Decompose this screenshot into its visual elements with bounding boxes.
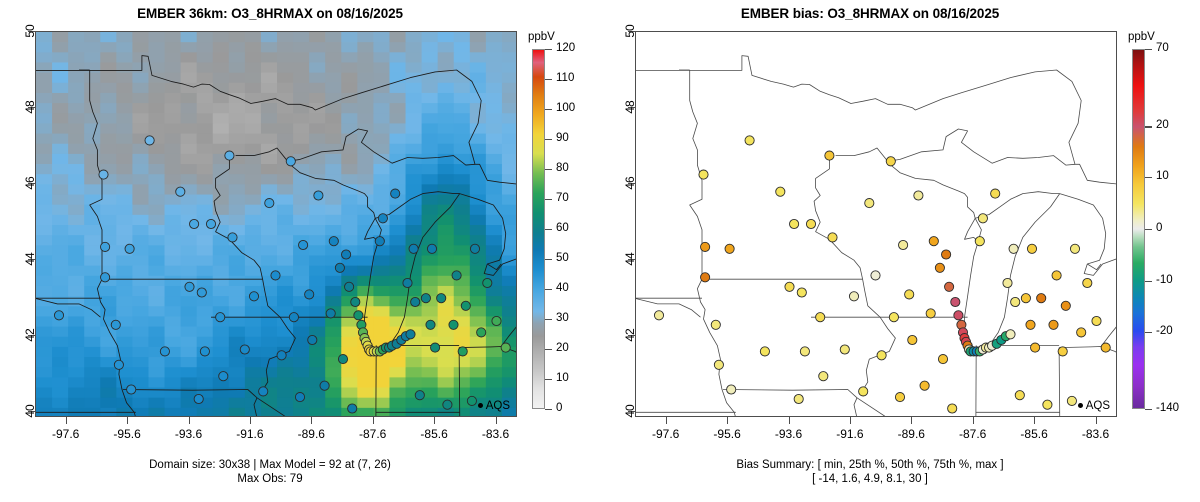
panel-title-bias: EMBER bias: O3_8HRMAX on 08/16/2025 [600, 6, 1140, 21]
raster-cell [502, 205, 516, 216]
raster-cell [406, 52, 423, 63]
raster-cell [293, 62, 310, 73]
aqs-station-marker[interactable] [259, 387, 268, 396]
aqs-station-marker[interactable] [920, 381, 929, 390]
raster-cell [148, 286, 165, 297]
raster-cell [229, 174, 246, 185]
raster-cell [229, 205, 246, 216]
aqs-station-marker[interactable] [711, 320, 720, 329]
raster-cell [213, 357, 230, 368]
aqs-station-marker[interactable] [501, 343, 510, 352]
aqs-station-marker[interactable] [277, 351, 286, 360]
raster-cell [116, 144, 133, 155]
aqs-station-marker[interactable] [825, 151, 834, 160]
raster-cell [148, 113, 165, 124]
aqs-station-marker[interactable] [945, 282, 954, 291]
raster-cell [470, 316, 487, 327]
raster-cell [357, 408, 374, 416]
aqs-station-marker[interactable] [828, 233, 837, 242]
aqs-station-marker[interactable] [249, 292, 258, 301]
raster-cell [36, 134, 53, 145]
raster-cell [197, 144, 214, 155]
raster-cell [277, 235, 294, 246]
raster-cell [52, 123, 69, 134]
aqs-station-marker[interactable] [1049, 320, 1058, 329]
aqs-station-marker[interactable] [477, 328, 486, 337]
raster-cell [245, 184, 262, 195]
raster-cell [422, 113, 439, 124]
raster-cell [470, 205, 487, 216]
raster-cell [68, 266, 85, 277]
raster-cell [309, 93, 326, 104]
raster-cell [148, 164, 165, 175]
aqs-station-marker[interactable] [443, 400, 452, 409]
aqs-station-marker[interactable] [314, 191, 323, 200]
aqs-station-marker[interactable] [954, 311, 963, 320]
raster-cell [277, 215, 294, 226]
aqs-station-marker[interactable] [714, 360, 723, 369]
raster-cell [486, 42, 503, 53]
aqs-station-marker[interactable] [351, 297, 360, 306]
aqs-station-marker[interactable] [295, 393, 304, 402]
aqs-station-marker[interactable] [320, 381, 329, 390]
raster-cell [261, 154, 278, 165]
aqs-station-marker[interactable] [354, 311, 363, 320]
aqs-station-marker[interactable] [286, 157, 295, 166]
colorbar-tick-label: 80 [556, 162, 569, 174]
raster-cell [454, 62, 471, 73]
raster-cell [373, 327, 390, 338]
raster-cell [422, 32, 439, 43]
colorbar-tick-label: -140 [1156, 402, 1179, 414]
raster-cell [148, 174, 165, 185]
raster-cell [245, 205, 262, 216]
raster-cell [84, 123, 101, 134]
aqs-station-marker[interactable] [200, 347, 209, 356]
raster-cell [261, 337, 278, 348]
raster-cell [261, 327, 278, 338]
raster-cell [309, 83, 326, 94]
aqs-station-marker[interactable] [378, 214, 387, 223]
aqs-station-marker[interactable] [1006, 330, 1015, 339]
x-axis-bias: -97.6-95.6-93.6-91.6-89.6-87.6-85.6-83.6 [635, 417, 1117, 451]
aqs-station-marker[interactable] [145, 136, 154, 145]
aqs-station-marker[interactable] [785, 282, 794, 291]
raster-cell [165, 306, 182, 317]
aqs-station-marker[interactable] [760, 347, 769, 356]
aqs-station-marker[interactable] [725, 244, 734, 253]
aqs-station-marker[interactable] [289, 313, 298, 322]
raster-cell [470, 255, 487, 266]
aqs-station-marker[interactable] [127, 385, 136, 394]
aqs-station-marker[interactable] [470, 244, 479, 253]
aqs-station-marker[interactable] [1031, 343, 1040, 352]
raster-cell [52, 398, 69, 409]
raster-cell [229, 93, 246, 104]
raster-cell [116, 73, 133, 84]
aqs-station-marker[interactable] [899, 240, 908, 249]
raster-cell [245, 144, 262, 155]
aqs-station-marker[interactable] [426, 320, 435, 329]
aqs-station-marker[interactable] [411, 297, 420, 306]
aqs-station-marker[interactable] [338, 355, 347, 364]
raster-cell [148, 93, 165, 104]
raster-cell [389, 306, 406, 317]
aqs-station-marker[interactable] [905, 290, 914, 299]
raster-cell [165, 408, 182, 416]
aqs-station-marker[interactable] [1009, 244, 1018, 253]
aqs-station-marker[interactable] [415, 391, 424, 400]
raster-cell [197, 266, 214, 277]
aqs-station-marker[interactable] [701, 242, 710, 251]
aqs-station-marker[interactable] [914, 191, 923, 200]
raster-cell [438, 225, 455, 236]
raster-cell [406, 184, 423, 195]
raster-cell [486, 357, 503, 368]
raster-cell [357, 286, 374, 297]
raster-cell [100, 134, 117, 145]
raster-cell [132, 195, 149, 206]
raster-cell [245, 113, 262, 124]
raster-cell [181, 62, 198, 73]
aqs-station-marker[interactable] [865, 199, 874, 208]
raster-cell [389, 113, 406, 124]
aqs-station-marker[interactable] [1003, 278, 1012, 287]
raster-cell [165, 164, 182, 175]
raster-cell [132, 286, 149, 297]
raster-cell [213, 93, 230, 104]
raster-cell [197, 154, 214, 165]
aqs-station-marker[interactable] [776, 187, 785, 196]
raster-cell [486, 123, 503, 134]
aqs-station-marker[interactable] [926, 309, 935, 318]
raster-cell [229, 296, 246, 307]
aqs-station-marker[interactable] [948, 404, 957, 413]
aqs-station-marker[interactable] [889, 313, 898, 322]
aqs-dot-icon [478, 403, 483, 408]
raster-cell [165, 367, 182, 378]
raster-cell [438, 113, 455, 124]
aqs-station-marker[interactable] [1077, 328, 1086, 337]
aqs-station-marker[interactable] [99, 170, 108, 179]
raster-cell [325, 316, 342, 327]
raster-cell [502, 113, 516, 124]
raster-cell [502, 306, 516, 317]
aqs-station-marker[interactable] [101, 242, 110, 251]
aqs-station-marker[interactable] [101, 273, 110, 282]
aqs-station-marker[interactable] [176, 187, 185, 196]
aqs-station-marker[interactable] [1026, 320, 1035, 329]
aqs-station-marker[interactable] [991, 189, 1000, 198]
raster-cell [277, 52, 294, 63]
aqs-station-marker[interactable] [806, 219, 815, 228]
raster-cell [165, 123, 182, 134]
raster-cell [502, 357, 516, 368]
aqs-station-marker[interactable] [308, 335, 317, 344]
raster-cell [341, 32, 358, 43]
aqs-station-marker[interactable] [185, 282, 194, 291]
aqs-station-marker[interactable] [305, 290, 314, 299]
aqs-station-marker[interactable] [849, 292, 858, 301]
aqs-station-marker[interactable] [978, 214, 987, 223]
raster-cell [181, 73, 198, 84]
raster-cell [197, 93, 214, 104]
aqs-station-marker[interactable] [240, 345, 249, 354]
aqs-station-marker[interactable] [437, 294, 446, 303]
raster-cell [100, 52, 117, 63]
raster-cell [100, 154, 117, 165]
raster-cell [373, 164, 390, 175]
raster-cell [309, 357, 326, 368]
raster-cell [213, 398, 230, 409]
aqs-station-marker[interactable] [125, 244, 134, 253]
aqs-station-marker[interactable] [409, 244, 418, 253]
raster-cell [100, 32, 117, 43]
y-tick: 46 [600, 183, 635, 184]
raster-cell [116, 83, 133, 94]
aqs-station-marker[interactable] [1083, 278, 1092, 287]
aqs-station-marker[interactable] [938, 355, 947, 364]
raster-cell [341, 215, 358, 226]
aqs-station-marker[interactable] [794, 394, 803, 403]
aqs-station-marker[interactable] [886, 157, 895, 166]
raster-cell [309, 205, 326, 216]
aqs-station-marker[interactable] [1092, 316, 1101, 325]
aqs-station-marker[interactable] [701, 273, 710, 282]
aqs-station-marker[interactable] [54, 311, 63, 320]
raster-cell [261, 123, 278, 134]
aqs-station-marker[interactable] [391, 189, 400, 198]
aqs-station-marker[interactable] [483, 278, 492, 287]
colorbar-tick-mark [1145, 229, 1152, 230]
raster-cell [197, 235, 214, 246]
aqs-station-marker[interactable] [859, 387, 868, 396]
y-axis-bias: 404244464850 [600, 31, 635, 417]
raster-cell [132, 235, 149, 246]
raster-cell [229, 52, 246, 63]
aqs-station-marker[interactable] [403, 278, 412, 287]
raster-cell [454, 134, 471, 145]
raster-cell [502, 32, 516, 43]
aqs-station-marker[interactable] [190, 219, 199, 228]
aqs-station-marker[interactable] [216, 313, 225, 322]
x-axis-model: -97.6-95.6-93.6-91.6-89.6-87.6-85.6-83.6 [35, 417, 517, 451]
raster-cell [502, 93, 516, 104]
aqs-station-marker[interactable] [745, 136, 754, 145]
raster-cell [502, 52, 516, 63]
aqs-station-marker[interactable] [225, 151, 234, 160]
aqs-station-marker[interactable] [1015, 391, 1024, 400]
aqs-station-marker[interactable] [342, 250, 351, 259]
raster-cell [309, 123, 326, 134]
raster-cell [229, 164, 246, 175]
aqs-station-marker[interactable] [265, 199, 274, 208]
raster-cell [438, 367, 455, 378]
aqs-station-marker[interactable] [375, 237, 384, 246]
raster-cell [309, 347, 326, 358]
raster-cell [325, 52, 342, 63]
raster-cell [325, 83, 342, 94]
colorbar-tick-label: 0 [556, 402, 562, 414]
raster-cell [68, 367, 85, 378]
raster-cell [148, 388, 165, 399]
aqs-station-marker[interactable] [1067, 396, 1076, 405]
raster-cell [373, 255, 390, 266]
aqs-station-marker[interactable] [114, 360, 123, 369]
aqs-station-marker[interactable] [111, 320, 120, 329]
raster-cell [68, 103, 85, 114]
aqs-station-marker[interactable] [840, 345, 849, 354]
aqs-station-marker[interactable] [1061, 301, 1070, 310]
raster-cell [422, 306, 439, 317]
aqs-station-marker[interactable] [492, 316, 501, 325]
aqs-station-marker[interactable] [219, 372, 228, 381]
aqs-station-marker[interactable] [816, 313, 825, 322]
aqs-station-marker[interactable] [908, 335, 917, 344]
aqs-station-marker[interactable] [206, 219, 215, 228]
raster-cell [245, 52, 262, 63]
aqs-station-marker[interactable] [406, 330, 415, 339]
x-tick-label: -91.6 [836, 427, 863, 441]
y-tick-label: 50 [624, 24, 636, 37]
aqs-station-marker[interactable] [800, 347, 809, 356]
aqs-station-marker[interactable] [951, 297, 960, 306]
aqs-station-marker[interactable] [1052, 271, 1061, 280]
aqs-station-marker[interactable] [797, 288, 806, 297]
aqs-station-marker[interactable] [329, 237, 338, 246]
aqs-station-marker[interactable] [935, 263, 944, 272]
raster-cell [422, 174, 439, 185]
map-background [636, 32, 1116, 416]
aqs-station-marker[interactable] [1043, 400, 1052, 409]
aqs-station-marker[interactable] [1027, 244, 1036, 253]
raster-cell [181, 123, 198, 134]
aqs-station-marker[interactable] [194, 394, 203, 403]
aqs-station-marker[interactable] [975, 237, 984, 246]
aqs-station-marker[interactable] [1037, 294, 1046, 303]
raster-cell [277, 144, 294, 155]
raster-cell [100, 93, 117, 104]
raster-cell [197, 377, 214, 388]
aqs-station-marker[interactable] [1011, 297, 1020, 306]
aqs-station-marker[interactable] [1058, 347, 1067, 356]
raster-cell [261, 103, 278, 114]
aqs-station-marker[interactable] [461, 301, 470, 310]
y-tick-label: 46 [624, 176, 636, 189]
x-tick-mark [1034, 417, 1035, 424]
raster-cell [454, 388, 471, 399]
raster-cell [309, 367, 326, 378]
raster-cell [100, 337, 117, 348]
raster-cell [100, 123, 117, 134]
raster-cell [389, 377, 406, 388]
aqs-station-marker[interactable] [877, 351, 886, 360]
map-canvas-bias [636, 32, 1116, 416]
raster-cell [373, 225, 390, 236]
aqs-station-marker[interactable] [654, 311, 663, 320]
aqs-station-marker[interactable] [895, 393, 904, 402]
raster-cell [116, 134, 133, 145]
raster-cell [52, 83, 69, 94]
aqs-station-marker[interactable] [929, 237, 938, 246]
raster-cell [148, 235, 165, 246]
aqs-station-marker[interactable] [335, 263, 344, 272]
raster-cell [132, 398, 149, 409]
raster-cell [197, 73, 214, 84]
raster-cell [245, 316, 262, 327]
aqs-station-marker[interactable] [421, 294, 430, 303]
raster-cell [486, 73, 503, 84]
raster-cell [132, 357, 149, 368]
aqs-station-marker[interactable] [871, 271, 880, 280]
aqs-station-marker[interactable] [727, 385, 736, 394]
aqs-station-marker[interactable] [271, 271, 280, 280]
raster-cell [68, 174, 85, 185]
raster-cell [84, 184, 101, 195]
aqs-station-marker[interactable] [299, 240, 308, 249]
raster-cell [165, 276, 182, 287]
aqs-station-marker[interactable] [345, 282, 354, 291]
raster-cell [373, 245, 390, 256]
raster-cell [454, 123, 471, 134]
raster-cell [406, 134, 423, 145]
raster-cell [502, 286, 516, 297]
aqs-station-marker[interactable] [326, 309, 335, 318]
raster-cell [165, 42, 182, 53]
aqs-station-marker[interactable] [449, 320, 458, 329]
aqs-station-marker[interactable] [819, 372, 828, 381]
aqs-station-marker[interactable] [228, 233, 237, 242]
raster-cell [502, 164, 516, 175]
raster-cell [325, 327, 342, 338]
y-tick-label: 44 [624, 253, 636, 266]
raster-cell [165, 205, 182, 216]
raster-cell [100, 144, 117, 155]
raster-cell [309, 134, 326, 145]
raster-cell [293, 83, 310, 94]
raster-cell [116, 123, 133, 134]
raster-cell [36, 32, 53, 43]
aqs-station-marker[interactable] [458, 347, 467, 356]
raster-cell [229, 266, 246, 277]
aqs-station-marker[interactable] [197, 288, 206, 297]
raster-cell [325, 62, 342, 73]
aqs-station-marker[interactable] [467, 396, 476, 405]
raster-cell [229, 73, 246, 84]
raster-cell [181, 377, 198, 388]
aqs-station-marker[interactable] [452, 271, 461, 280]
aqs-station-marker[interactable] [427, 244, 436, 253]
aqs-station-marker[interactable] [1021, 294, 1030, 303]
aqs-station-marker[interactable] [942, 250, 951, 259]
raster-cell [84, 32, 101, 43]
raster-cell [148, 408, 165, 416]
aqs-station-marker[interactable] [1101, 343, 1110, 352]
raster-cell [438, 215, 455, 226]
aqs-station-marker[interactable] [790, 219, 799, 228]
raster-cell [325, 195, 342, 206]
aqs-station-marker[interactable] [348, 404, 357, 413]
raster-cell [165, 398, 182, 409]
colorbar-tick-label: -20 [1156, 325, 1173, 337]
aqs-station-marker[interactable] [699, 170, 708, 179]
raster-cell [470, 123, 487, 134]
aqs-station-marker[interactable] [160, 347, 169, 356]
aqs-station-marker[interactable] [431, 343, 440, 352]
aqs-station-marker[interactable] [1070, 244, 1079, 253]
colorbar-tick-label: 100 [556, 102, 575, 114]
raster-cell [341, 195, 358, 206]
